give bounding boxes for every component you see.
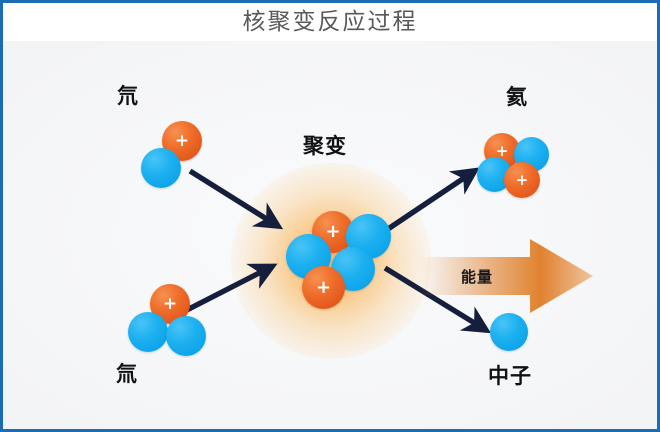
arrow-tritium-to-core — [181, 269, 267, 313]
energy-arrow: 能量 — [421, 249, 593, 311]
free-neutron — [490, 313, 528, 351]
proton-plus-sign: + — [504, 162, 540, 198]
tritium-neutron-2 — [166, 316, 206, 356]
title-bar: 核聚变反应过程 — [3, 3, 657, 41]
energy-label: 能量 — [461, 270, 493, 285]
neutron-label: 中子 — [488, 366, 532, 387]
helium-label: 氦 — [506, 87, 528, 108]
tritium-label: 氚 — [116, 364, 138, 385]
fusion-label: 聚变 — [303, 136, 347, 157]
core-proton-2: + — [302, 266, 345, 309]
arrow-core-to-helium — [385, 174, 470, 231]
deuterium-label: 氘 — [117, 86, 139, 107]
deuterium-neutron — [141, 148, 181, 188]
tritium-neutron-1 — [128, 312, 168, 352]
helium-proton-2: + — [504, 162, 540, 198]
page-title: 核聚变反应过程 — [243, 11, 418, 34]
proton-plus-sign: + — [302, 266, 345, 309]
fusion-diagram-screen: 核聚变反应过程 — [0, 0, 660, 432]
diagram-canvas: 能量 氘 + + 氚 聚变 + — [3, 41, 657, 429]
arrow-deuterium-to-core — [190, 171, 273, 223]
